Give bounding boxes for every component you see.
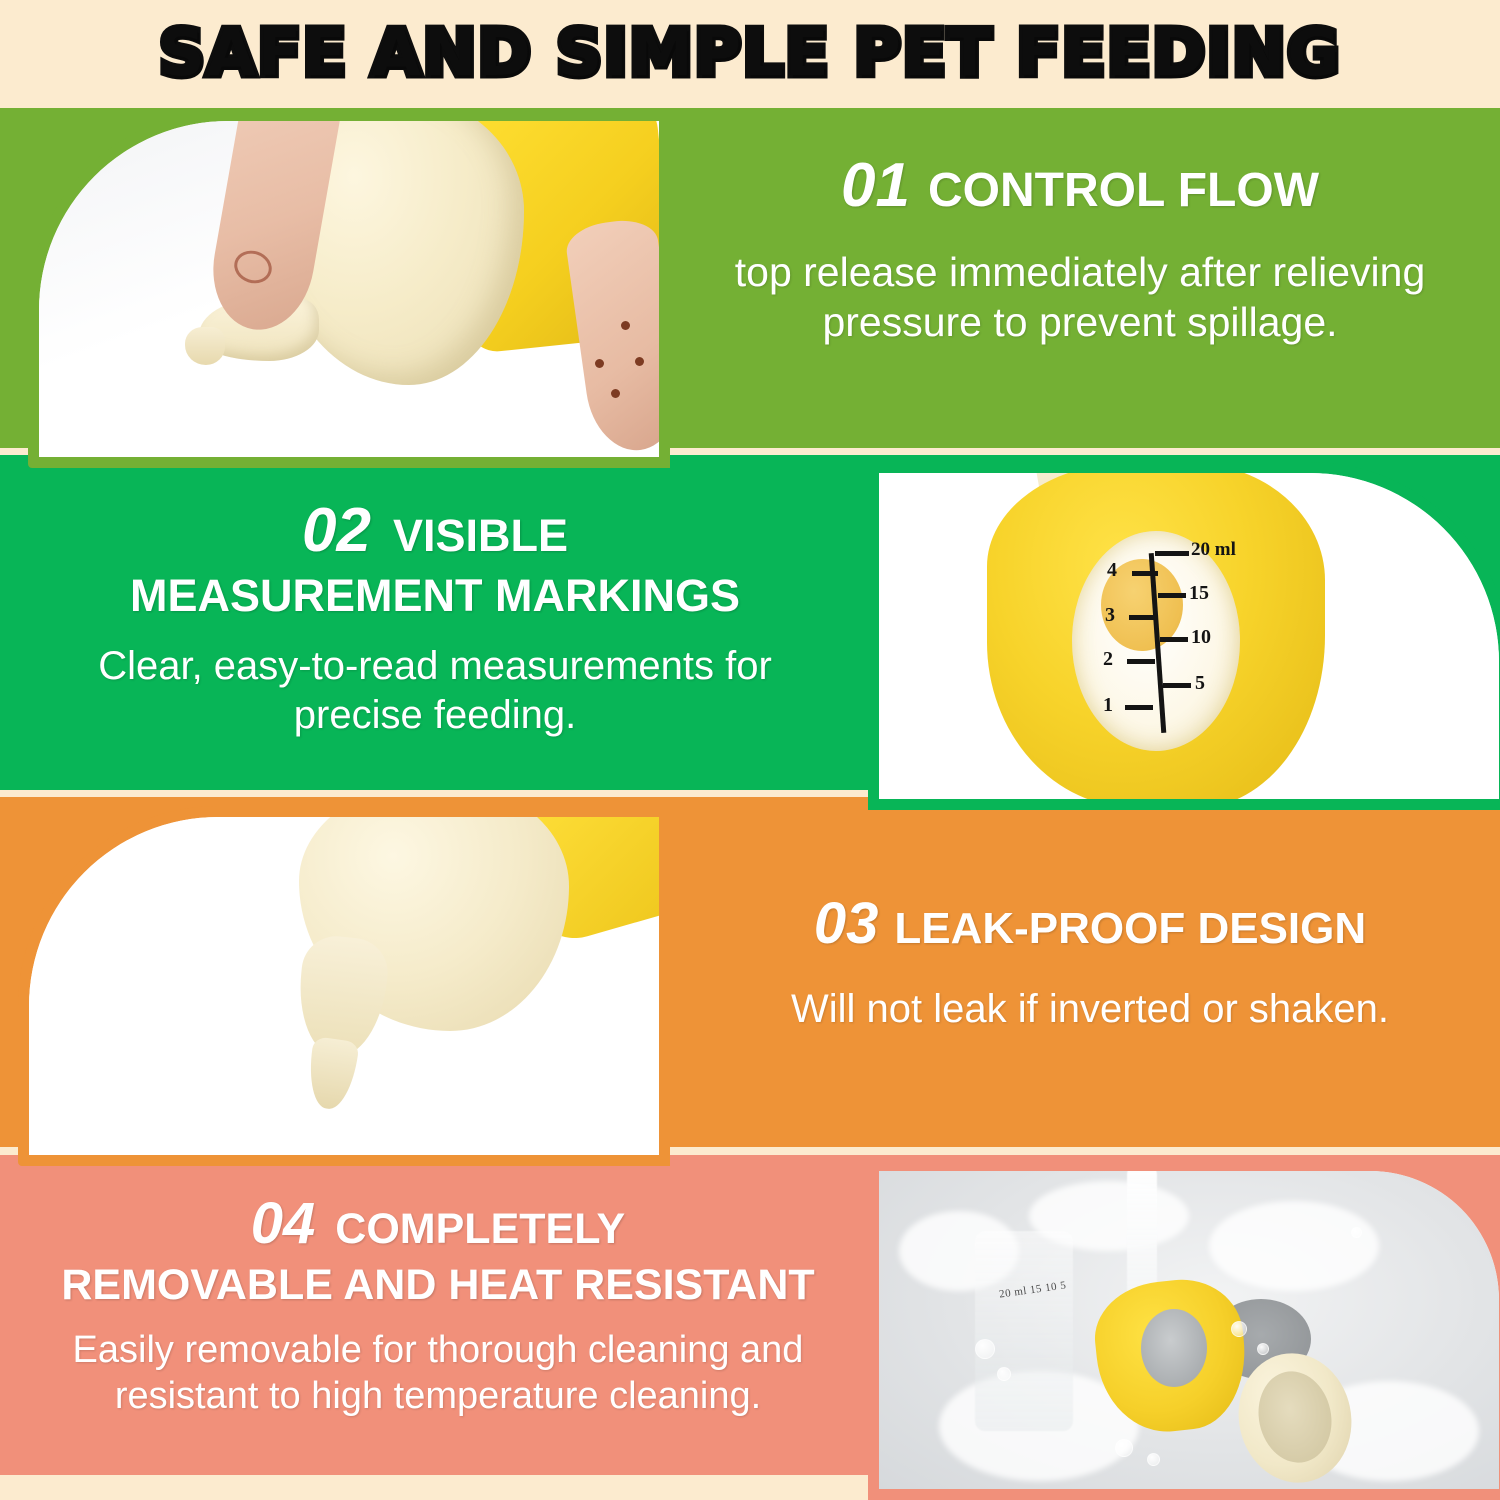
section-02-title: VISIBLE [393, 510, 568, 561]
scale-label-15: 15 [1189, 582, 1209, 605]
section-01-number: 01 [841, 150, 910, 221]
photo-leak-proof [18, 806, 670, 1166]
section-02-headline: 02VISIBLE [30, 495, 840, 566]
section-03-number: 03 [814, 890, 879, 957]
section-02-body: Clear, easy-to-read measurements for pre… [30, 642, 840, 740]
section-text-02: 02VISIBLE MEASUREMENT MARKINGS Clear, ea… [30, 495, 840, 740]
section-03-body: Will not leak if inverted or shaken. [690, 985, 1490, 1034]
header-bar: SAFE AND SIMPLE PET FEEDING [0, 0, 1500, 108]
section-text-04: 04COMPLETELY REMOVABLE AND HEAT RESISTAN… [18, 1190, 858, 1419]
infographic-page: SAFE AND SIMPLE PET FEEDING [0, 0, 1500, 1500]
section-02-number: 02 [302, 495, 371, 566]
section-01-title: CONTROL FLOW [928, 164, 1319, 217]
photo-washing-cleaning: 20 ml 15 10 5 [868, 1160, 1500, 1500]
scale-label-3: 3 [1105, 604, 1115, 627]
photo-measurement-markings: 20 ml 4 3 2 1 15 10 5 [868, 462, 1500, 810]
section-04-number: 04 [251, 1190, 316, 1257]
scale-label-10: 10 [1191, 626, 1211, 649]
section-04-headline: 04COMPLETELY [18, 1190, 858, 1257]
section-text-03: 03LEAK-PROOF DESIGN Will not leak if inv… [690, 890, 1490, 1034]
scale-label-2: 2 [1103, 648, 1113, 671]
page-title: SAFE AND SIMPLE PET FEEDING [159, 17, 1341, 91]
scale-label-5: 5 [1195, 672, 1205, 695]
section-04-body: Easily removable for thorough cleaning a… [18, 1328, 858, 1419]
section-01-headline: 01CONTROL FLOW [680, 150, 1480, 221]
section-02-title-line2: MEASUREMENT MARKINGS [30, 570, 840, 622]
scale-label-1: 1 [1103, 694, 1113, 717]
section-04-title-line2: REMOVABLE AND HEAT RESISTANT [18, 1261, 858, 1310]
section-04-title: COMPLETELY [335, 1205, 625, 1253]
scale-label-20ml: 20 ml [1191, 539, 1236, 561]
section-03-title: LEAK-PROOF DESIGN [894, 904, 1366, 953]
photo-control-flow [28, 110, 670, 468]
section-text-01: 01CONTROL FLOW top release immediately a… [680, 150, 1480, 347]
scale-label-4: 4 [1107, 559, 1117, 582]
section-03-headline: 03LEAK-PROOF DESIGN [690, 890, 1490, 957]
section-01-body: top release immediately after relieving … [680, 247, 1480, 347]
